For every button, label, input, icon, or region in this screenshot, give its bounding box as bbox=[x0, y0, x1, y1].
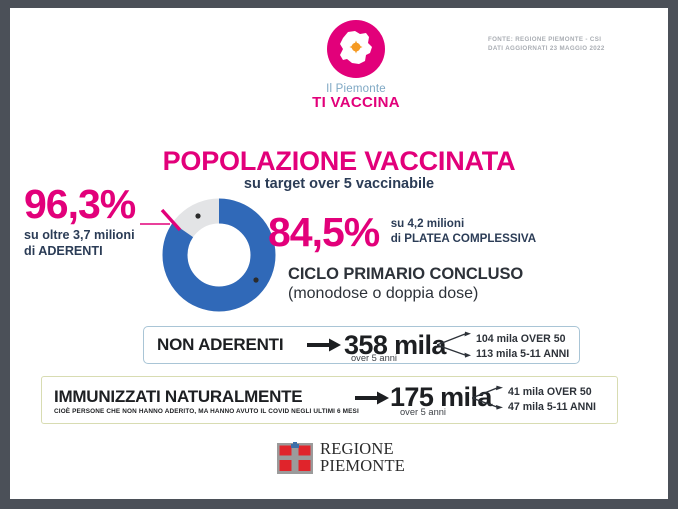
stat-aderenti-desc-line-2: di ADERENTI bbox=[24, 243, 184, 259]
cycle-block: CICLO PRIMARIO CONCLUSO (monodose o dopp… bbox=[288, 265, 618, 303]
stat-platea-desc-line-2: di PLATEA COMPLESSIVA bbox=[391, 232, 536, 245]
screenshot-frame: FONTE: REGIONE PIEMONTE - CSI DATI AGGIO… bbox=[0, 0, 678, 509]
non-aderenti-branch-1: 104 mila OVER 50 bbox=[476, 332, 569, 347]
cycle-title: CICLO PRIMARIO CONCLUSO bbox=[288, 265, 618, 284]
non-aderenti-branch-2: 113 mila 5-11 ANNI bbox=[476, 347, 569, 362]
regione-piemonte-line-2: PIEMONTE bbox=[320, 458, 405, 475]
stat-platea-description: su 4,2 milioni di PLATEA COMPLESSIVA bbox=[391, 216, 536, 246]
immunizzati-branch-2: 47 mila 5-11 ANNI bbox=[508, 400, 596, 415]
regione-piemonte-wordmark: REGIONE PIEMONTE bbox=[320, 441, 405, 475]
stat-aderenti: 96,3% su oltre 3,7 milioni di ADERENTI bbox=[24, 185, 184, 259]
immunizzati-sublabel: CIOÈ PERSONE CHE NON HANNO ADERITO, MA H… bbox=[54, 408, 359, 415]
regione-piemonte-logo: REGIONE PIEMONTE bbox=[276, 438, 405, 478]
cycle-subtitle: (monodose o doppia dose) bbox=[288, 285, 618, 303]
campaign-logo: Il Piemonte TI VACCINA bbox=[302, 20, 410, 111]
campaign-logo-line-2: TI VACCINA bbox=[302, 95, 410, 111]
stat-aderenti-description: su oltre 3,7 milioni di ADERENTI bbox=[24, 227, 184, 259]
immunizzati-branch-1: 41 mila OVER 50 bbox=[508, 385, 596, 400]
non-aderenti-branches: 104 mila OVER 50 113 mila 5-11 ANNI bbox=[476, 332, 569, 362]
campaign-logo-circle bbox=[327, 20, 385, 78]
arrow-right-icon-non-aderenti bbox=[307, 337, 341, 353]
stat-aderenti-value: 96,3% bbox=[24, 185, 184, 224]
branch-lines-non-aderenti bbox=[437, 331, 473, 359]
non-aderenti-label: NON ADERENTI bbox=[157, 335, 283, 355]
source-line-2: DATI AGGIORNATI 23 MAGGIO 2022 bbox=[488, 45, 668, 54]
source-line-1: FONTE: REGIONE PIEMONTE - CSI bbox=[488, 36, 668, 45]
arrow-right-icon-immunizzati bbox=[355, 390, 389, 406]
immunizzati-branches: 41 mila OVER 50 47 mila 5-11 ANNI bbox=[508, 385, 596, 415]
stat-platea-desc-line-1: su 4,2 milioni bbox=[391, 217, 464, 230]
stat-platea: 84,5% su 4,2 milioni di PLATEA COMPLESSI… bbox=[268, 212, 568, 253]
page-title: POPOLAZIONE VACCINATA bbox=[10, 146, 668, 177]
immunizzati-label: IMMUNIZZATI NATURALMENTE bbox=[54, 387, 302, 407]
donut-anchor-dot-left bbox=[195, 213, 200, 218]
stat-platea-value: 84,5% bbox=[268, 212, 379, 253]
piemonte-region-shape-icon bbox=[335, 28, 377, 70]
infographic-canvas: FONTE: REGIONE PIEMONTE - CSI DATI AGGIO… bbox=[10, 8, 668, 499]
immunizzati-note: over 5 anni bbox=[400, 407, 446, 417]
source-note: FONTE: REGIONE PIEMONTE - CSI DATI AGGIO… bbox=[488, 36, 668, 54]
donut-anchor-dot-right bbox=[253, 277, 258, 282]
regione-piemonte-emblem-icon bbox=[276, 439, 314, 477]
branch-lines-immunizzati bbox=[472, 385, 504, 411]
stat-aderenti-desc-line-1: su oltre 3,7 milioni bbox=[24, 227, 184, 243]
non-aderenti-note: over 5 anni bbox=[351, 353, 397, 363]
